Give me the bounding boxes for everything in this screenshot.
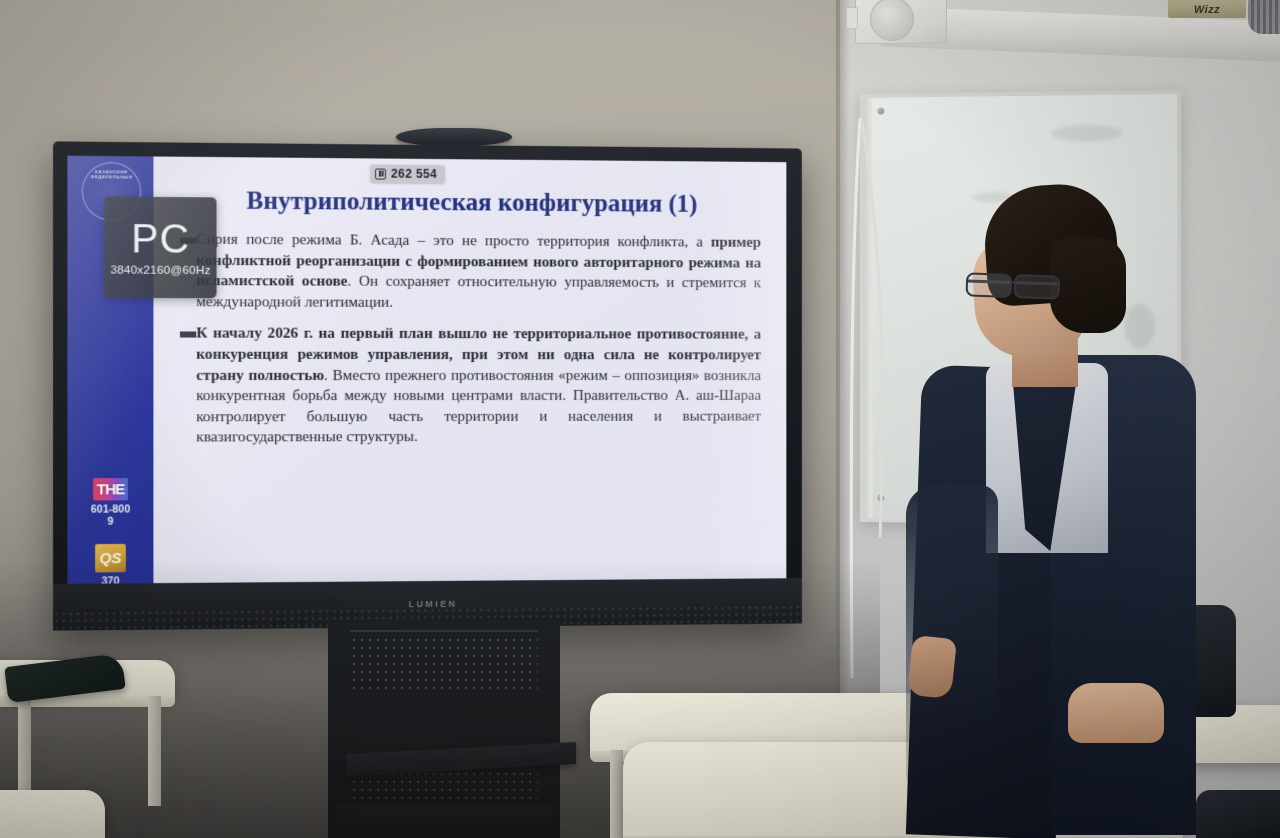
osd-source-label: PC [131, 218, 190, 261]
counter-value: 262 554 [391, 167, 437, 181]
presenter-arm [906, 485, 998, 785]
slide-title: Внутриполитическая конфигурация (1) [180, 187, 761, 219]
lumien-display[interactable]: КАЗАНСКИЙ ФЕДЕРАЛЬНЫЙ THE 601-800 9 QS 3… [53, 141, 802, 630]
osd-resolution-label: 3840x2160@60Hz [110, 264, 210, 277]
desk-leg [148, 696, 161, 806]
desk-left-back [0, 790, 105, 838]
vent-unit [1248, 0, 1280, 34]
slide-bullet-text: Сирия после режима Б. Асада – это не про… [196, 230, 761, 315]
whiteboard-smudge [1052, 125, 1122, 142]
slide-bullet: К началу 2026 г. на первый план вышло не… [180, 324, 761, 449]
classroom-scene: Wizz КАЗАНСКИЙ ФЕДЕРАЛЬНЫЙ THE [0, 0, 1280, 838]
ranking-the: THE 601-800 9 [67, 478, 153, 528]
the-rank-range: 601-800 [67, 503, 153, 516]
slide-counter-badge: 262 554 [370, 164, 445, 183]
display-osd-overlay: PC 3840x2160@60Hz [104, 197, 216, 299]
wizz-label: Wizz [1194, 4, 1220, 18]
whiteboard-screw [877, 494, 884, 501]
university-seal-text: КАЗАНСКИЙ ФЕДЕРАЛЬНЫЙ [83, 169, 140, 180]
the-logo-icon: THE [93, 478, 128, 500]
desk-leg [610, 750, 623, 838]
whiteboard-screw [877, 108, 884, 115]
chair-right-lower [1196, 790, 1280, 838]
presenter-hand-left [907, 635, 957, 699]
slide-bullet-text: К началу 2026 г. на первый план вышло не… [196, 324, 761, 449]
bullet-segment: Сирия после режима Б. Асада – это не про… [196, 231, 711, 251]
wizz-appliance: Wizz [1168, 0, 1246, 18]
display-screen[interactable]: КАЗАНСКИЙ ФЕДЕРАЛЬНЫЙ THE 601-800 9 QS 3… [67, 156, 786, 586]
presenter [900, 185, 1200, 838]
speaker-cone [870, 0, 914, 41]
whiteboard-frame [864, 98, 873, 518]
presenter-hand-on-desk [1068, 683, 1164, 743]
slide-body: 262 554 Внутриполитическая конфигурация … [153, 156, 786, 585]
wall-speaker [855, 0, 947, 44]
square-bullet-icon [180, 332, 196, 338]
counter-icon [375, 168, 386, 179]
speaker-bracket [846, 7, 858, 29]
the-rank-position: 9 [67, 515, 153, 528]
presenter-hair-side [1050, 237, 1126, 333]
slide-bullet: Сирия после режима Б. Асада – это не про… [180, 229, 761, 314]
